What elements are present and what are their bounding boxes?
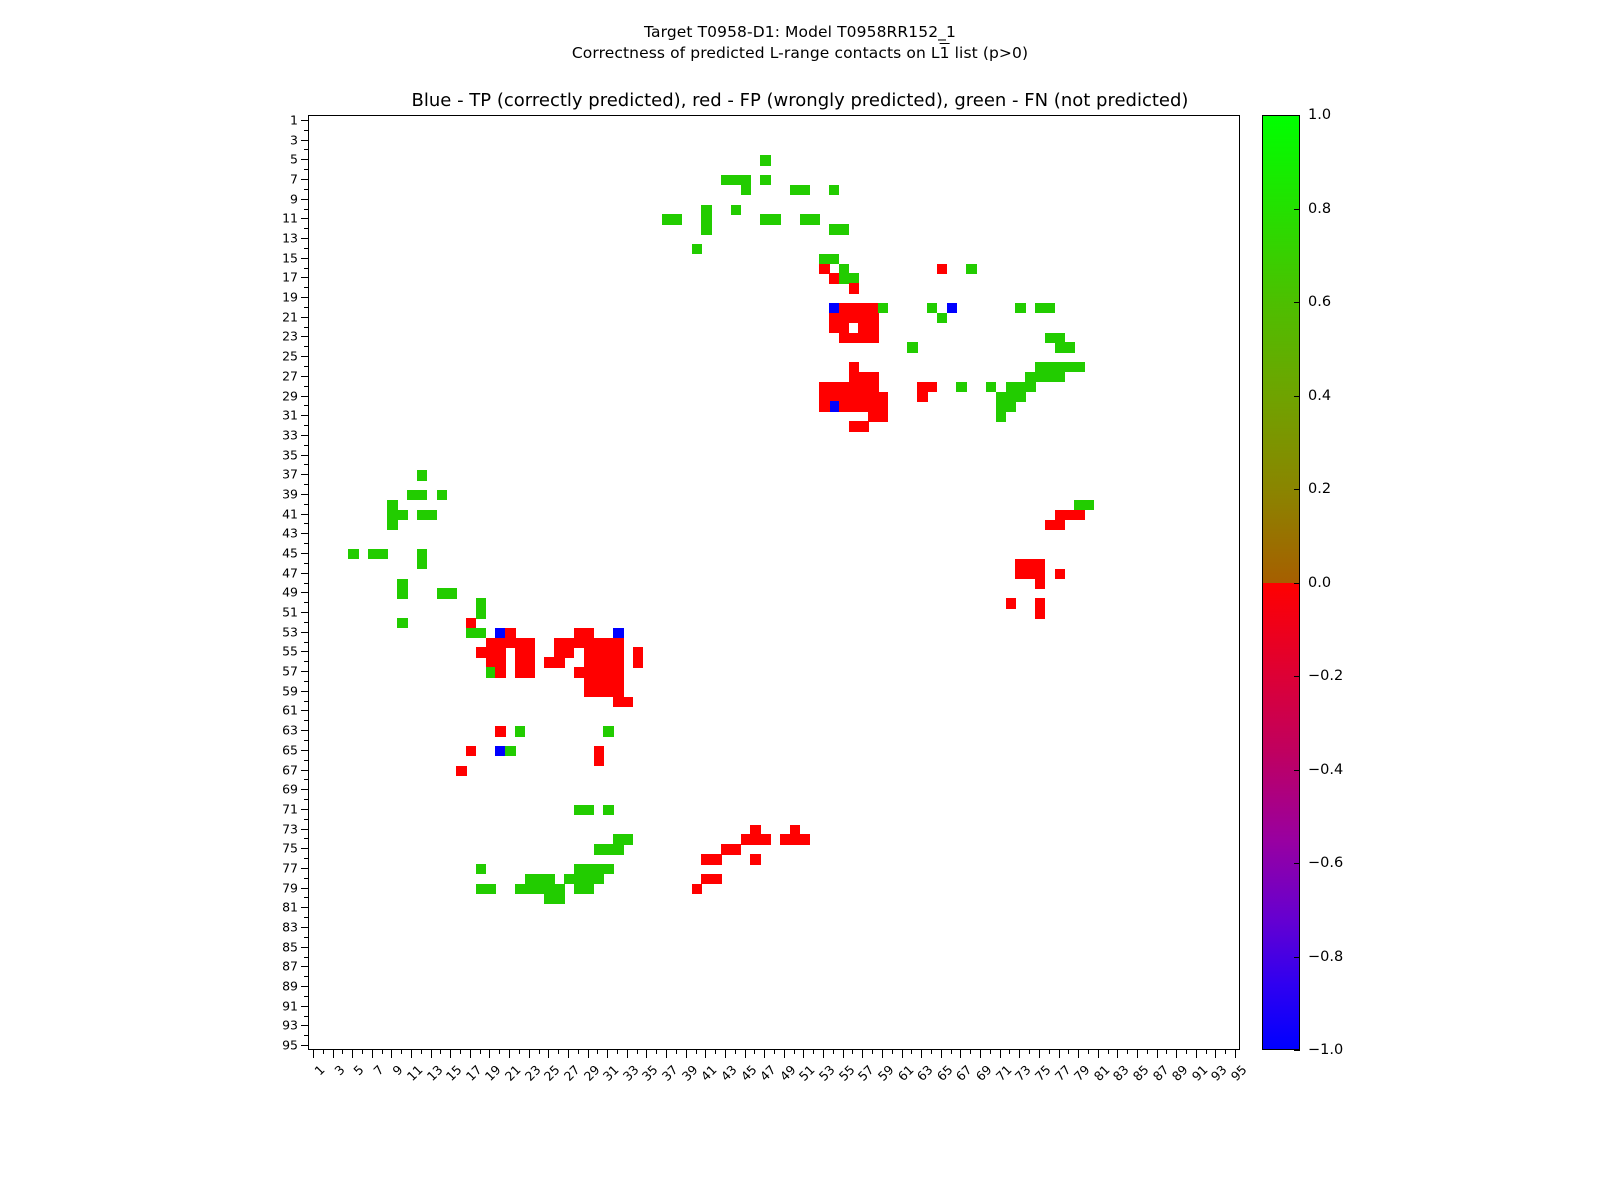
x-tick-mark [823, 1050, 824, 1054]
y-tick-mark-major [301, 592, 308, 593]
x-tick-mark-major [882, 1050, 883, 1058]
x-tick-mark-major [548, 1050, 549, 1058]
x-tick-mark [960, 1050, 961, 1054]
x-tick-mark [597, 1050, 598, 1054]
x-axis-tick-label: 25 [521, 1062, 563, 1104]
x-axis-tick-label: 31 [580, 1062, 622, 1104]
contact-cell [1064, 342, 1074, 352]
contact-cell [603, 726, 613, 736]
contact-cell [397, 510, 407, 520]
x-tick-mark-major [980, 1050, 981, 1058]
x-tick-mark [617, 1050, 618, 1054]
x-tick-mark [450, 1050, 451, 1054]
colorbar-tick-label: 0.2 [1308, 481, 1331, 497]
contact-cell [927, 382, 937, 392]
contact-cell [378, 549, 388, 559]
contact-cell [427, 510, 437, 520]
contact-cell [701, 224, 711, 234]
y-axis-tick-label: 69 [250, 782, 298, 797]
contact-cell [1055, 569, 1065, 579]
x-tick-mark-major [1098, 1050, 1099, 1058]
y-axis-tick-label: 49 [250, 585, 298, 600]
x-tick-mark-major [725, 1050, 726, 1058]
colorbar-tick-mark [1294, 583, 1300, 584]
y-axis-tick-label: 17 [250, 270, 298, 285]
y-tick-mark-major [301, 356, 308, 357]
chart-title-line-2-pre: Correctness of predicted L-range contact… [572, 44, 940, 62]
x-tick-mark [833, 1050, 834, 1054]
x-tick-mark [382, 1050, 383, 1054]
y-tick-mark-major [301, 1045, 308, 1046]
x-tick-mark-major [705, 1050, 706, 1058]
contact-cell [623, 834, 633, 844]
contact-map-cells [309, 116, 1239, 1049]
contact-cell [1074, 362, 1084, 372]
y-axis-tick-label: 71 [250, 801, 298, 816]
x-tick-mark [754, 1050, 755, 1054]
x-tick-mark-major [391, 1050, 392, 1058]
y-tick-mark-major [301, 140, 308, 141]
y-axis-tick-label: 63 [250, 723, 298, 738]
chart-title-overline-one: 1 [940, 44, 950, 62]
x-tick-mark [1068, 1050, 1069, 1054]
contact-cell [613, 844, 623, 854]
y-tick-mark-major [301, 947, 308, 948]
y-axis-tick-label: 43 [250, 526, 298, 541]
contact-cell [996, 411, 1006, 421]
x-tick-mark [1039, 1050, 1040, 1054]
contact-cell [584, 805, 594, 815]
x-tick-mark [401, 1050, 402, 1054]
contact-cell [692, 244, 702, 254]
x-axis-tick-label: 89 [1149, 1062, 1191, 1104]
x-axis-tick-label: 5 [325, 1062, 367, 1104]
x-axis-tick-label: 67 [933, 1062, 975, 1104]
colorbar-tick-mark [1294, 676, 1300, 677]
y-axis-tick-label: 87 [250, 959, 298, 974]
y-tick-mark-major [301, 573, 308, 574]
contact-cell [417, 559, 427, 569]
x-tick-mark [411, 1050, 412, 1054]
y-tick-mark-major [301, 730, 308, 731]
x-tick-mark [1108, 1050, 1109, 1054]
contact-cell [839, 401, 849, 411]
colorbar-tick-mark [1294, 209, 1300, 210]
y-axis-tick-label: 27 [250, 368, 298, 383]
x-axis-tick-label: 65 [914, 1062, 956, 1104]
contact-cell [907, 342, 917, 352]
x-tick-mark [676, 1050, 677, 1054]
contact-cell [594, 756, 604, 766]
x-tick-mark-major [1078, 1050, 1079, 1058]
contact-cell [564, 647, 574, 657]
contact-cell [348, 549, 358, 559]
x-tick-mark-major [803, 1050, 804, 1058]
x-tick-mark [431, 1050, 432, 1054]
x-tick-mark-major [1117, 1050, 1118, 1058]
contact-cell [800, 185, 810, 195]
y-axis-tick-label: 5 [250, 152, 298, 167]
colorbar-tick-mark [1294, 489, 1300, 490]
x-tick-mark [1098, 1050, 1099, 1054]
x-tick-mark-major [470, 1050, 471, 1058]
y-tick-mark-major [301, 770, 308, 771]
x-tick-mark-major [1157, 1050, 1158, 1058]
contact-cell [937, 264, 947, 274]
contact-cell [417, 470, 427, 480]
x-tick-mark [627, 1050, 628, 1054]
x-tick-mark [333, 1050, 334, 1054]
contact-cell [1045, 303, 1055, 313]
x-axis-tick-label: 37 [639, 1062, 681, 1104]
x-tick-mark [745, 1050, 746, 1054]
y-axis-tick-label: 15 [250, 250, 298, 265]
y-axis-tick-label: 53 [250, 624, 298, 639]
y-tick-mark-major [301, 514, 308, 515]
chart-title-line-2: Correctness of predicted L-range contact… [0, 43, 1600, 64]
y-tick-mark-major [301, 829, 308, 830]
x-tick-mark-major [509, 1050, 510, 1058]
y-tick-mark-major [301, 415, 308, 416]
x-tick-mark-major [489, 1050, 490, 1058]
x-axis-tick-label: 7 [345, 1062, 387, 1104]
chart-title-block: Target T0958-D1: Model T0958RR152_1 Corr… [0, 22, 1600, 64]
y-axis-tick-label: 79 [250, 880, 298, 895]
colorbar-tick-mark [1294, 957, 1300, 958]
contact-cell [849, 283, 859, 293]
y-tick-mark-major [301, 927, 308, 928]
x-tick-mark-major [529, 1050, 530, 1058]
contact-cell [594, 874, 604, 884]
x-tick-mark-major [1000, 1050, 1001, 1058]
x-tick-mark [1157, 1050, 1158, 1054]
contact-cell [711, 854, 721, 864]
x-tick-mark [372, 1050, 373, 1054]
contact-cell [495, 667, 505, 677]
colorbar-tick-label: −0.2 [1308, 668, 1343, 684]
x-tick-mark [735, 1050, 736, 1054]
x-tick-mark [911, 1050, 912, 1054]
x-tick-mark [1166, 1050, 1167, 1054]
colorbar-tick-mark [1294, 770, 1300, 771]
colorbar-tick-mark [1294, 302, 1300, 303]
y-tick-mark-major [301, 710, 308, 711]
x-tick-mark-major [1235, 1050, 1236, 1058]
x-tick-mark [656, 1050, 657, 1054]
x-axis-tick-label: 11 [384, 1062, 426, 1104]
x-tick-mark [578, 1050, 579, 1054]
y-axis-tick-label: 31 [250, 408, 298, 423]
x-tick-mark [774, 1050, 775, 1054]
x-tick-mark-major [1137, 1050, 1138, 1058]
y-axis-tick-label: 37 [250, 467, 298, 482]
y-axis-tick-label: 83 [250, 919, 298, 934]
x-tick-mark-major [843, 1050, 844, 1058]
x-axis-tick-label: 51 [776, 1062, 818, 1104]
x-tick-mark [607, 1050, 608, 1054]
y-tick-mark-major [301, 474, 308, 475]
x-tick-mark-major [1215, 1050, 1216, 1058]
x-tick-mark [558, 1050, 559, 1054]
x-tick-mark [882, 1050, 883, 1054]
x-tick-mark-major [941, 1050, 942, 1058]
contact-cell [731, 844, 741, 854]
x-axis-tick-label: 35 [619, 1062, 661, 1104]
y-tick-mark-major [301, 809, 308, 810]
x-axis-tick-label: 73 [992, 1062, 1034, 1104]
y-tick-mark-major [301, 494, 308, 495]
x-tick-mark [1049, 1050, 1050, 1054]
x-tick-mark [803, 1050, 804, 1054]
x-axis-tick-label: 71 [973, 1062, 1015, 1104]
y-tick-mark-major [301, 750, 308, 751]
contact-cell [515, 726, 525, 736]
contact-cell [1074, 510, 1084, 520]
x-axis-tick-label: 17 [443, 1062, 485, 1104]
y-tick-mark-major [301, 632, 308, 633]
y-axis-tick-label: 33 [250, 427, 298, 442]
x-axis-tick-label: 19 [462, 1062, 504, 1104]
x-tick-mark [843, 1050, 844, 1054]
x-tick-mark-major [1039, 1050, 1040, 1058]
y-axis-tick-label: 85 [250, 939, 298, 954]
colorbar-tick-label: 0.6 [1308, 294, 1331, 310]
y-tick-mark-major [301, 435, 308, 436]
x-tick-mark [862, 1050, 863, 1054]
contact-cell [476, 864, 486, 874]
y-tick-mark-major [301, 868, 308, 869]
x-tick-mark [892, 1050, 893, 1054]
x-tick-mark [852, 1050, 853, 1054]
y-tick-mark-major [301, 1006, 308, 1007]
x-tick-mark [480, 1050, 481, 1054]
y-axis-tick-label: 29 [250, 388, 298, 403]
contact-cell [495, 726, 505, 736]
x-axis-tick-label: 77 [1031, 1062, 1073, 1104]
colorbar[interactable]: 1.00.80.60.40.20.0−0.2−0.4−0.6−0.8−1.0 [1262, 115, 1300, 1050]
y-axis-tick-label: 9 [250, 191, 298, 206]
x-axis-tick-label: 23 [502, 1062, 544, 1104]
x-tick-mark-major [784, 1050, 785, 1058]
x-tick-mark-major [902, 1050, 903, 1058]
x-tick-mark-major [646, 1050, 647, 1058]
contact-cell [1006, 598, 1016, 608]
y-tick-mark-major [301, 396, 308, 397]
y-axis-tick-label: 39 [250, 486, 298, 501]
contact-cell [1015, 392, 1025, 402]
y-tick-mark-major [301, 691, 308, 692]
x-tick-mark [646, 1050, 647, 1054]
contact-cell [633, 657, 643, 667]
x-axis-tick-label: 9 [364, 1062, 406, 1104]
x-tick-mark [352, 1050, 353, 1054]
x-axis-tick-label: 81 [1071, 1062, 1113, 1104]
colorbar-tick-label: 0.8 [1308, 201, 1331, 217]
x-axis-tick-label: 57 [835, 1062, 877, 1104]
colorbar-tick-mark [1294, 396, 1300, 397]
x-tick-mark [951, 1050, 952, 1054]
y-axis-tick-label: 95 [250, 1038, 298, 1053]
colorbar-tick-label: −1.0 [1308, 1042, 1343, 1058]
contact-cell [917, 392, 927, 402]
y-axis-tick-label: 13 [250, 231, 298, 246]
colorbar-tick-label: 1.0 [1308, 107, 1331, 123]
y-tick-mark-major [301, 297, 308, 298]
y-tick-mark-major [301, 258, 308, 259]
colorbar-tick-label: −0.4 [1308, 762, 1343, 778]
colorbar-tick-mark [1294, 863, 1300, 864]
colorbar-tick-label: 0.4 [1308, 388, 1331, 404]
y-axis-tick-label: 55 [250, 644, 298, 659]
contact-cell [760, 834, 770, 844]
contact-cell [741, 185, 751, 195]
y-tick-mark-major [301, 612, 308, 613]
x-tick-mark-major [823, 1050, 824, 1058]
x-tick-mark [440, 1050, 441, 1054]
contact-cell [437, 490, 447, 500]
y-tick-mark-major [301, 651, 308, 652]
x-tick-mark-major [431, 1050, 432, 1058]
x-tick-mark [1059, 1050, 1060, 1054]
contact-cell [819, 401, 829, 411]
y-tick-mark-major [301, 848, 308, 849]
x-tick-mark [980, 1050, 981, 1054]
x-axis-tick-label: 69 [953, 1062, 995, 1104]
contact-cell [966, 264, 976, 274]
contact-cell [760, 155, 770, 165]
x-tick-mark [539, 1050, 540, 1054]
contact-cell [839, 224, 849, 234]
y-axis-tick-label: 35 [250, 447, 298, 462]
y-tick-mark-major [301, 671, 308, 672]
x-tick-mark-major [666, 1050, 667, 1058]
y-tick-mark-major [301, 553, 308, 554]
x-tick-mark [470, 1050, 471, 1054]
contact-cell [1006, 401, 1016, 411]
x-axis-tick-label: 87 [1129, 1062, 1171, 1104]
x-tick-mark [1186, 1050, 1187, 1054]
x-tick-mark [1235, 1050, 1236, 1054]
x-tick-mark [794, 1050, 795, 1054]
x-tick-mark [489, 1050, 490, 1054]
contact-cell [956, 382, 966, 392]
contact-cell [466, 746, 476, 756]
x-axis-tick-label: 53 [796, 1062, 838, 1104]
x-tick-mark [637, 1050, 638, 1054]
x-tick-mark [1029, 1050, 1030, 1054]
x-tick-mark [784, 1050, 785, 1054]
x-tick-mark [391, 1050, 392, 1054]
x-tick-mark [1137, 1050, 1138, 1054]
x-tick-mark-major [607, 1050, 608, 1058]
x-axis-tick-label: 85 [1110, 1062, 1152, 1104]
x-tick-mark [970, 1050, 971, 1054]
contact-cell [800, 834, 810, 844]
x-tick-mark [696, 1050, 697, 1054]
colorbar-tick-mark [1294, 1050, 1300, 1051]
contact-cell [623, 697, 633, 707]
y-axis-tick-label: 47 [250, 565, 298, 580]
x-axis-tick-label: 29 [560, 1062, 602, 1104]
x-tick-mark [1078, 1050, 1079, 1054]
contact-cell [770, 214, 780, 224]
x-axis-tick-label: 27 [541, 1062, 583, 1104]
contact-map-plot-area[interactable] [308, 115, 1240, 1050]
x-tick-mark [764, 1050, 765, 1054]
y-axis-tick-label: 25 [250, 349, 298, 364]
contact-cell [829, 185, 839, 195]
colorbar-tick-label: −0.6 [1308, 855, 1343, 871]
x-tick-mark [323, 1050, 324, 1054]
y-axis-tick-label: 67 [250, 762, 298, 777]
y-axis-tick-label: 41 [250, 506, 298, 521]
x-tick-mark-major [333, 1050, 334, 1058]
y-tick-mark-major [301, 120, 308, 121]
y-axis-tick-label: 89 [250, 979, 298, 994]
x-tick-mark [931, 1050, 932, 1054]
x-tick-mark [362, 1050, 363, 1054]
y-tick-mark-major [301, 199, 308, 200]
x-tick-mark [1206, 1050, 1207, 1054]
x-tick-mark-major [686, 1050, 687, 1058]
x-tick-mark [902, 1050, 903, 1054]
x-axis-tick-label: 33 [600, 1062, 642, 1104]
x-axis-tick-label: 93 [1188, 1062, 1230, 1104]
x-tick-mark [421, 1050, 422, 1054]
y-axis-tick-label: 59 [250, 683, 298, 698]
x-tick-mark [872, 1050, 873, 1054]
y-axis-tick-label: 11 [250, 211, 298, 226]
x-tick-mark-major [450, 1050, 451, 1058]
y-tick-mark-major [301, 238, 308, 239]
y-axis-tick-label: 45 [250, 545, 298, 560]
x-tick-mark [1019, 1050, 1020, 1054]
x-tick-mark [715, 1050, 716, 1054]
x-tick-mark [460, 1050, 461, 1054]
y-axis-tick-label: 19 [250, 290, 298, 305]
x-tick-mark [509, 1050, 510, 1054]
contact-cell [525, 667, 535, 677]
colorbar-tick-label: 0.0 [1308, 575, 1331, 591]
contact-cell [456, 766, 466, 776]
x-axis-tick-label: 43 [698, 1062, 740, 1104]
x-axis-tick-label: 15 [423, 1062, 465, 1104]
y-axis-tick-label: 75 [250, 841, 298, 856]
x-axis-tick-label: 41 [678, 1062, 720, 1104]
contact-cell [417, 490, 427, 500]
contact-cell [868, 333, 878, 343]
x-tick-mark-major [568, 1050, 569, 1058]
contact-cell [554, 894, 564, 904]
contact-cell [809, 214, 819, 224]
y-tick-mark-major [301, 336, 308, 337]
contact-cell [858, 421, 868, 431]
contact-cell [1025, 382, 1035, 392]
x-tick-mark-major [313, 1050, 314, 1058]
x-tick-mark [519, 1050, 520, 1054]
y-tick-mark-major [301, 533, 308, 534]
x-tick-mark-major [764, 1050, 765, 1058]
x-tick-mark-major [411, 1050, 412, 1058]
contact-cell [731, 205, 741, 215]
contact-cell [1055, 520, 1065, 530]
x-tick-mark-major [1019, 1050, 1020, 1058]
contact-cell [603, 864, 613, 874]
contact-cell [711, 874, 721, 884]
y-tick-mark-major [301, 159, 308, 160]
contact-cell [692, 884, 702, 894]
x-tick-mark [1088, 1050, 1089, 1054]
